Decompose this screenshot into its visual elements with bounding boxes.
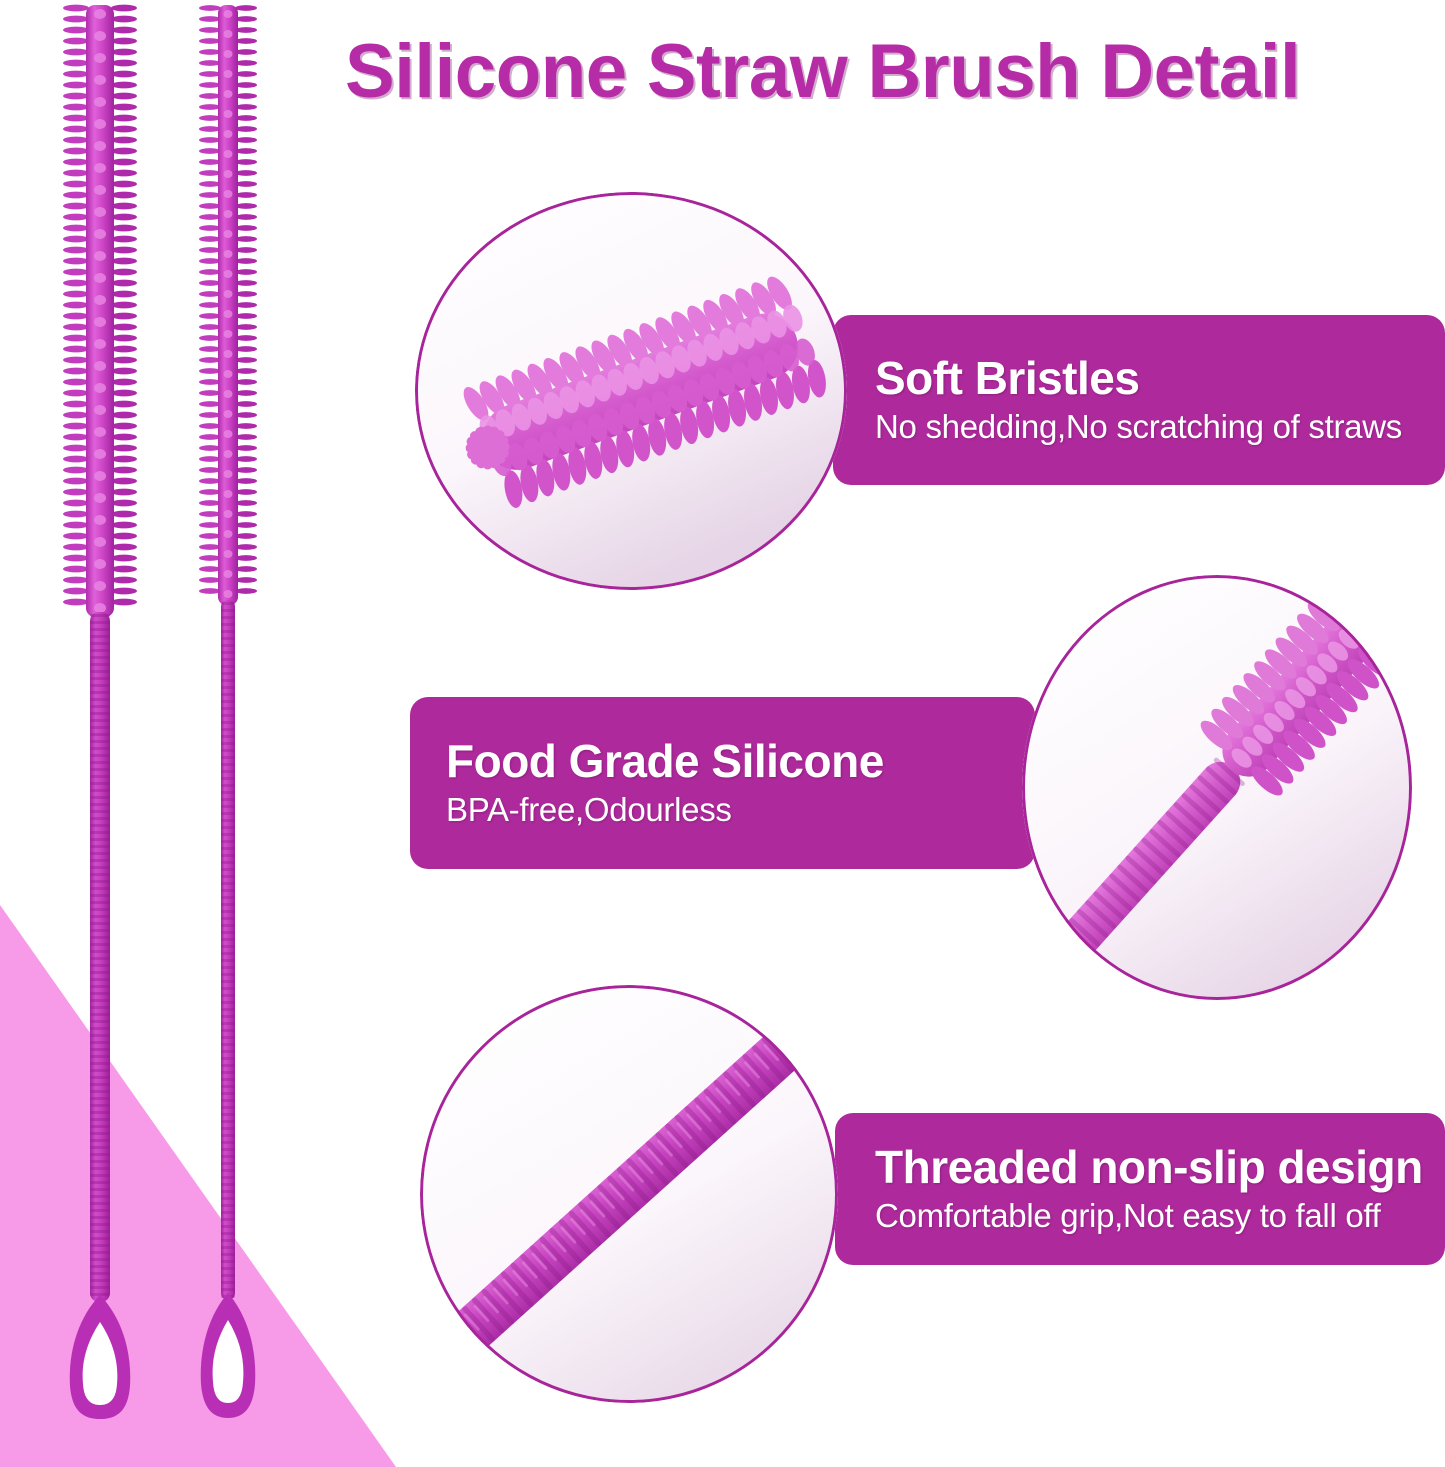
feature-photo-threaded-handle bbox=[420, 985, 838, 1403]
feature-photo-soft-bristles bbox=[415, 192, 847, 590]
feature-banner-threaded-non-slip: Threaded non-slip design Comfortable gri… bbox=[835, 1113, 1445, 1265]
feature-subtitle: Comfortable grip,Not easy to fall off bbox=[875, 1199, 1445, 1234]
feature-title: Food Grade Silicone bbox=[446, 738, 1035, 785]
feature-photo-food-grade-silicone bbox=[1022, 575, 1412, 1000]
feature-title: Threaded non-slip design bbox=[875, 1144, 1445, 1191]
feature-subtitle: BPA-free,Odourless bbox=[446, 793, 1035, 828]
feature-banner-food-grade-silicone: Food Grade Silicone BPA-free,Odourless bbox=[410, 697, 1035, 869]
feature-subtitle: No shedding,No scratching of straws bbox=[875, 410, 1445, 445]
feature-title: Soft Bristles bbox=[875, 355, 1445, 402]
brush-small bbox=[196, 0, 260, 1420]
page-title: Silicone Straw Brush Detail bbox=[345, 28, 1418, 115]
brush-head-macro-photo bbox=[415, 192, 847, 590]
infographic-canvas: Silicone Straw Brush Detail Soft Bristle… bbox=[0, 0, 1445, 1467]
brush-large bbox=[62, 0, 138, 1420]
brush-head-shaft-macro-photo bbox=[1022, 575, 1412, 1000]
threaded-shaft-macro-photo bbox=[420, 985, 838, 1403]
feature-banner-soft-bristles: Soft Bristles No shedding,No scratching … bbox=[833, 315, 1445, 485]
